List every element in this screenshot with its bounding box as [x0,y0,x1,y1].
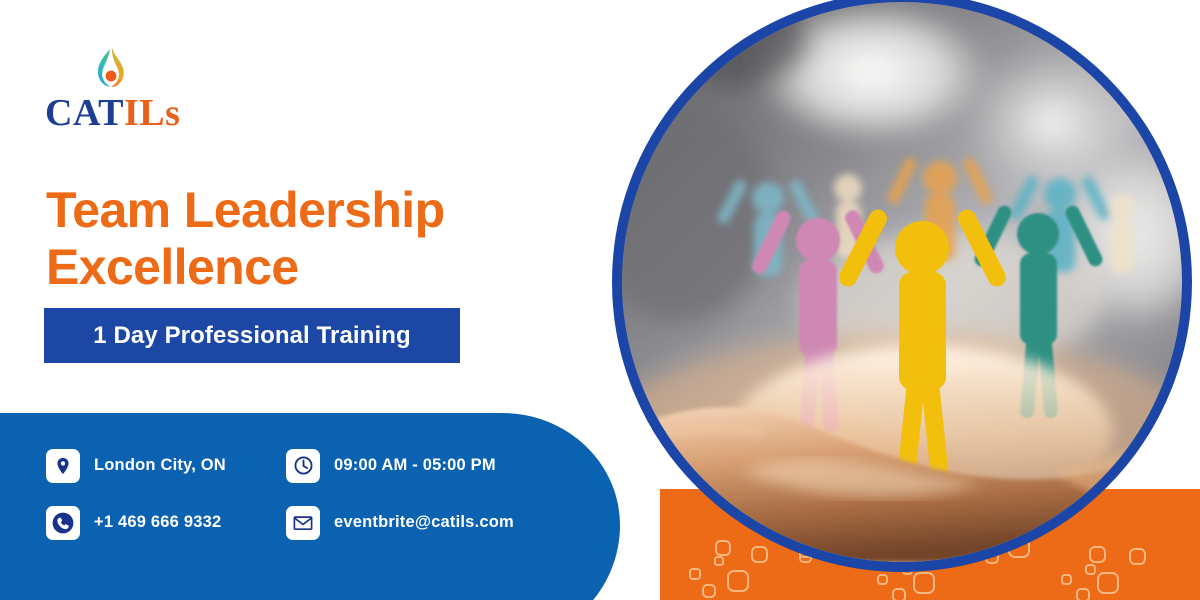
info-item-time: 09:00 AM - 05:00 PM [286,449,526,483]
phone-icon [46,506,80,540]
page-title-line-1: Team Leadership [46,182,586,239]
clock-icon [286,449,320,483]
event-banner: London City, ON 09:00 AM - 05:00 PM +1 4… [0,0,1200,600]
training-type-badge: 1 Day Professional Training [44,308,460,363]
info-location-text: London City, ON [94,456,226,475]
logo-text-ils-suffix: s [165,92,180,134]
info-item-phone: +1 469 666 9332 [46,506,286,540]
hero-photo-circle [612,0,1192,572]
logo-text-ils: IL [124,92,165,134]
info-email-text: eventbrite@catils.com [334,513,514,532]
info-phone-text: +1 469 666 9332 [94,513,221,532]
page-title: Team Leadership Excellence [46,182,586,296]
logo-wordmark: CATILs [45,94,180,132]
logo-text-cat: CAT [45,92,124,134]
hero-photo-image [622,2,1182,562]
contact-info-grid: London City, ON 09:00 AM - 05:00 PM +1 4… [46,437,586,551]
envelope-icon [286,506,320,540]
flame-icon [89,46,133,92]
brand-logo: CATILs [45,46,180,132]
paper-people-in-hand-photo [622,2,1182,562]
location-pin-icon [46,449,80,483]
info-item-email: eventbrite@catils.com [286,506,526,540]
page-title-line-2: Excellence [46,239,586,296]
training-type-badge-label: 1 Day Professional Training [93,322,410,350]
info-item-location: London City, ON [46,449,286,483]
info-time-text: 09:00 AM - 05:00 PM [334,456,496,475]
